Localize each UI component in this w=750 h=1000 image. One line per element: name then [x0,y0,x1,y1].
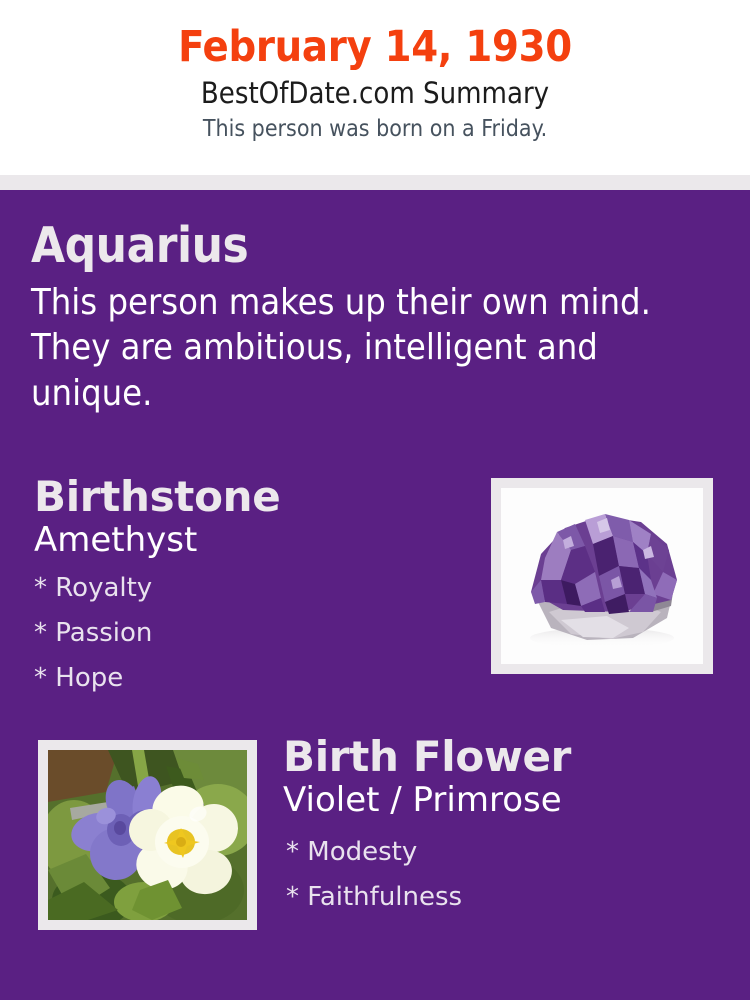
birthflower-photo-frame [38,740,257,930]
birthflower-photo [48,750,247,920]
birthstone-name: Amethyst [34,519,464,560]
zodiac-description: This person makes up their own mind. The… [31,270,671,416]
list-item: * Royalty [34,566,464,611]
list-item: * Passion [34,611,464,656]
birthflower-section: Birth Flower Violet / Primrose * Modesty… [283,735,733,920]
list-item: * Hope [34,656,464,701]
zodiac-sign-title: Aquarius [31,221,691,270]
birthstone-photo [501,488,703,664]
site-subtitle: BestOfDate.com Summary [0,70,750,110]
zodiac-section: Aquarius This person makes up their own … [31,221,691,416]
violet-primrose-svg [48,750,247,920]
birthstone-heading: Birthstone [34,475,464,519]
birthstone-photo-frame [491,478,713,674]
header: February 14, 1930 BestOfDate.com Summary… [0,0,750,175]
summary-card: February 14, 1930 BestOfDate.com Summary… [0,0,750,1000]
amethyst-crystal-icon [501,488,703,664]
amethyst-crystal-svg [501,488,703,664]
list-item: * Faithfulness [286,875,733,920]
page-title: February 14, 1930 [0,0,750,70]
violet-primrose-icon [48,750,247,920]
header-divider [0,175,750,190]
birthflower-name: Violet / Primrose [283,779,733,820]
birthflower-heading: Birth Flower [283,735,733,779]
list-item: * Modesty [286,830,733,875]
birthstone-section: Birthstone Amethyst * Royalty * Passion … [34,475,464,700]
birth-day-note: This person was born on a Friday. [0,110,750,142]
birthflower-trait-list: * Modesty * Faithfulness [283,820,733,919]
main-content: Aquarius This person makes up their own … [0,190,750,1000]
birthstone-trait-list: * Royalty * Passion * Hope [34,560,464,700]
